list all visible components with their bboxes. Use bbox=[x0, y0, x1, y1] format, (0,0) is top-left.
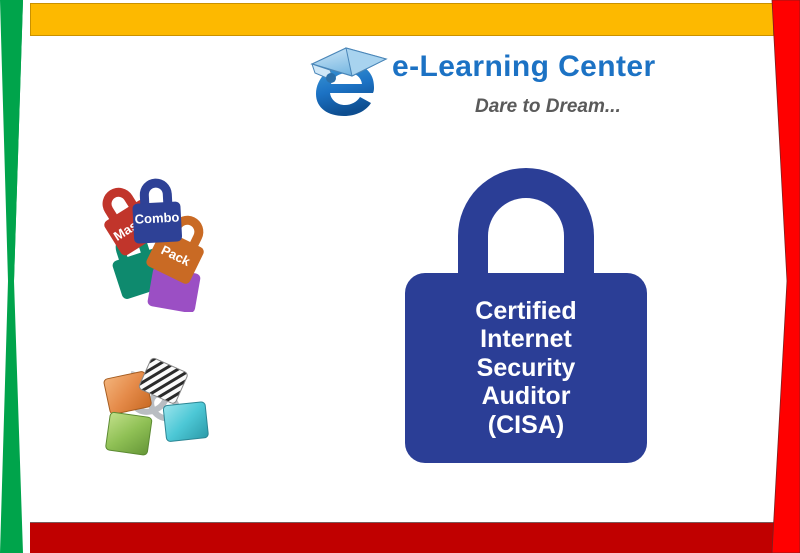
brand-tagline: Dare to Dream... bbox=[475, 96, 621, 118]
frame-top-bar bbox=[30, 3, 774, 36]
content-panel: e-Learning Center Dare to Dream... Maste… bbox=[31, 39, 773, 521]
cisa-line-5: (CISA) bbox=[488, 411, 564, 440]
cisa-padlock-badge: Certified Internet Security Auditor (CIS… bbox=[405, 168, 647, 463]
combo-lock-label-combo: Combo bbox=[134, 209, 180, 226]
cisa-line-4: Auditor bbox=[482, 382, 571, 411]
interlocked-padlocks-icon bbox=[86, 340, 218, 462]
cisa-line-1: Certified bbox=[475, 297, 576, 326]
padlock-body: Certified Internet Security Auditor (CIS… bbox=[405, 273, 647, 463]
brand-title: e-Learning Center bbox=[392, 50, 656, 84]
cisa-line-2: Internet bbox=[480, 325, 572, 354]
cisa-line-3: Security bbox=[477, 354, 576, 383]
slide-canvas: e-Learning Center Dare to Dream... Maste… bbox=[0, 0, 800, 553]
combo-pack-padlocks-icon: Master Pack Combo bbox=[72, 162, 242, 312]
brand-header: e-Learning Center Dare to Dream... bbox=[300, 38, 740, 133]
frame-bottom-bar bbox=[30, 522, 774, 553]
graduation-cap-e-logo-icon bbox=[300, 40, 396, 118]
